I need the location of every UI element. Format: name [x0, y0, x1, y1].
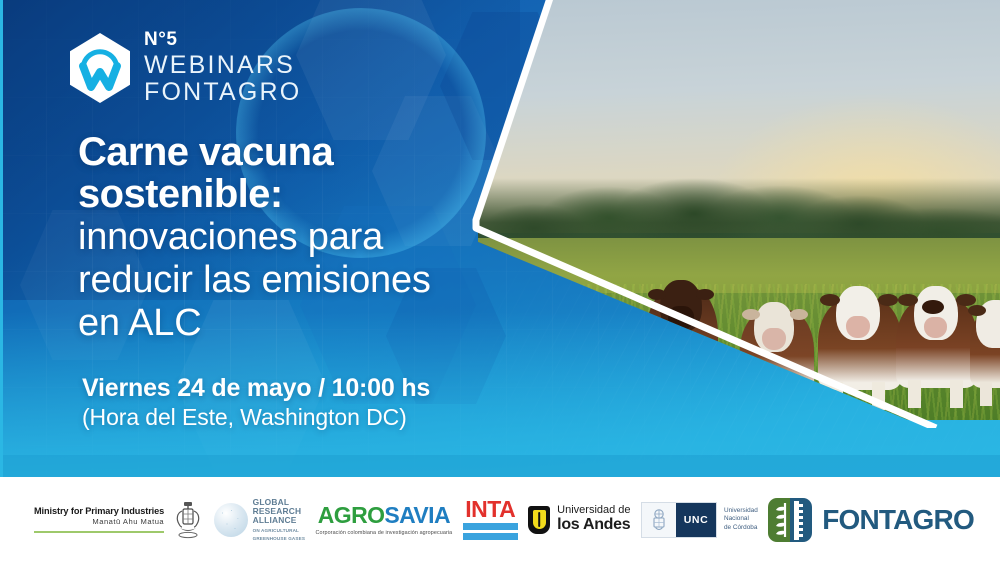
unc-acronym: UNC	[676, 503, 716, 537]
mpi-name: Ministry for Primary Industries	[34, 506, 164, 517]
globe-icon	[214, 503, 248, 537]
agrosavia-word-savia: SAVIA	[384, 502, 450, 528]
brand-lockup: N°5 WEBINARS FONTAGRO	[70, 30, 301, 106]
logo-universidad-de-los-andes: Universidad de los Andes	[528, 505, 630, 533]
mpi-maori-name: Manatū Ahu Matua	[92, 517, 164, 528]
title-light-line-2: reducir las emisiones	[78, 259, 548, 302]
inta-flag-bars-icon	[463, 523, 518, 530]
edition-number: N°5	[144, 30, 301, 49]
inta-flag-bar-lower	[463, 533, 518, 540]
title-bold-line-2: sostenible:	[78, 173, 548, 215]
fontagro-webinar-hexagon-w-icon	[70, 33, 130, 103]
cow-6	[970, 280, 1000, 406]
agrosavia-tagline: Corporación colombiana de investigación …	[316, 530, 453, 536]
gra-sub-1: ON AGRICULTURAL	[253, 528, 305, 534]
mpi-rule	[34, 531, 164, 533]
gra-line-3: ALLIANCE	[253, 516, 305, 525]
unc-line-3: de Córdoba	[724, 524, 758, 532]
andes-shield-icon	[528, 506, 550, 534]
title-light-line-3: en ALC	[78, 302, 548, 345]
inta-wordmark: INTA	[465, 499, 515, 521]
webinar-promo-banner: N°5 WEBINARS FONTAGRO Carne vacuna soste…	[0, 0, 1000, 562]
unc-line-1: Universidad	[724, 507, 758, 515]
page-title: Carne vacuna sostenible: innovaciones pa…	[78, 131, 548, 345]
gra-sub-2: GREENHOUSE GASES	[253, 536, 305, 542]
andes-line-2: los Andes	[557, 517, 630, 534]
logo-agrosavia: AGROSAVIA Corporación colombiana de inve…	[316, 504, 453, 536]
agrosavia-word-agro: AGRO	[318, 502, 385, 528]
logo-inta: INTA	[463, 499, 518, 541]
schedule-block: Viernes 24 de mayo / 10:00 hs (Hora del …	[82, 374, 430, 431]
fontagro-wordmark: FONTAGRO	[822, 504, 974, 536]
unc-line-2: Nacional	[724, 515, 758, 523]
title-bold-line-1: Carne vacuna	[78, 131, 548, 173]
unc-crest-icon	[642, 503, 676, 537]
partner-logo-bar: Ministry for Primary Industries Manatū A…	[0, 477, 1000, 562]
event-date-time: Viernes 24 de mayo / 10:00 hs	[82, 374, 430, 404]
logo-fontagro: FONTAGRO	[768, 498, 974, 542]
cyan-divider-strip	[0, 455, 1000, 477]
new-zealand-coat-of-arms-icon	[173, 501, 203, 539]
fontagro-wheat-gear-icon	[768, 498, 812, 542]
logo-universidad-nacional-de-cordoba: UNC Universidad Nacional de Córdoba	[641, 502, 758, 538]
brand-line-fontagro: FONTAGRO	[144, 79, 301, 106]
title-light-line-1: innovaciones para	[78, 216, 548, 259]
event-timezone: (Hora del Este, Washington DC)	[82, 404, 430, 432]
logo-global-research-alliance: GLOBAL RESEARCH ALLIANCE ON AGRICULTURAL…	[214, 498, 305, 542]
brand-line-webinars: WEBINARS	[144, 52, 301, 79]
logo-ministry-primary-industries: Ministry for Primary Industries Manatū A…	[34, 501, 203, 539]
